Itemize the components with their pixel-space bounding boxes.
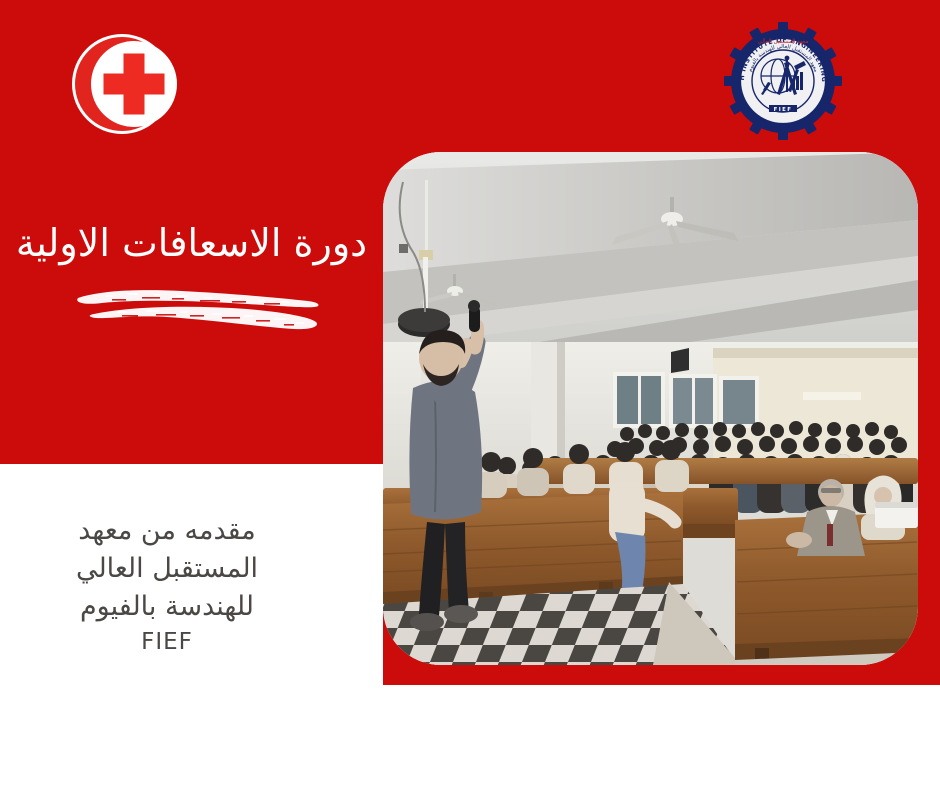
caption-block: مقدمه من معهد المستقبل العالي للهندسة با… [36,512,298,656]
svg-text:معهد المستقبل العالي: معهد المستقبل العالي [758,39,809,45]
lecture-hall-photo [383,152,918,665]
poster-canvas: FUTURE HIGH INSTITUTE OF ENGINEERING IN … [0,0,940,788]
caption-line-2: المستقبل العالي [36,550,298,588]
page-title: دورة الاسعافات الاولية [0,216,383,270]
caption-line-1: مقدمه من معهد [36,512,298,550]
institute-abbreviation: FIEF [36,628,298,656]
red-crescent-cross-logo [70,28,182,140]
caption-line-3: للهندسة بالفيوم [36,588,298,626]
institute-gear-logo: FUTURE HIGH INSTITUTE OF ENGINEERING IN … [724,22,842,140]
brush-stroke-underline [72,284,328,340]
svg-text:FIEF: FIEF [774,107,793,113]
